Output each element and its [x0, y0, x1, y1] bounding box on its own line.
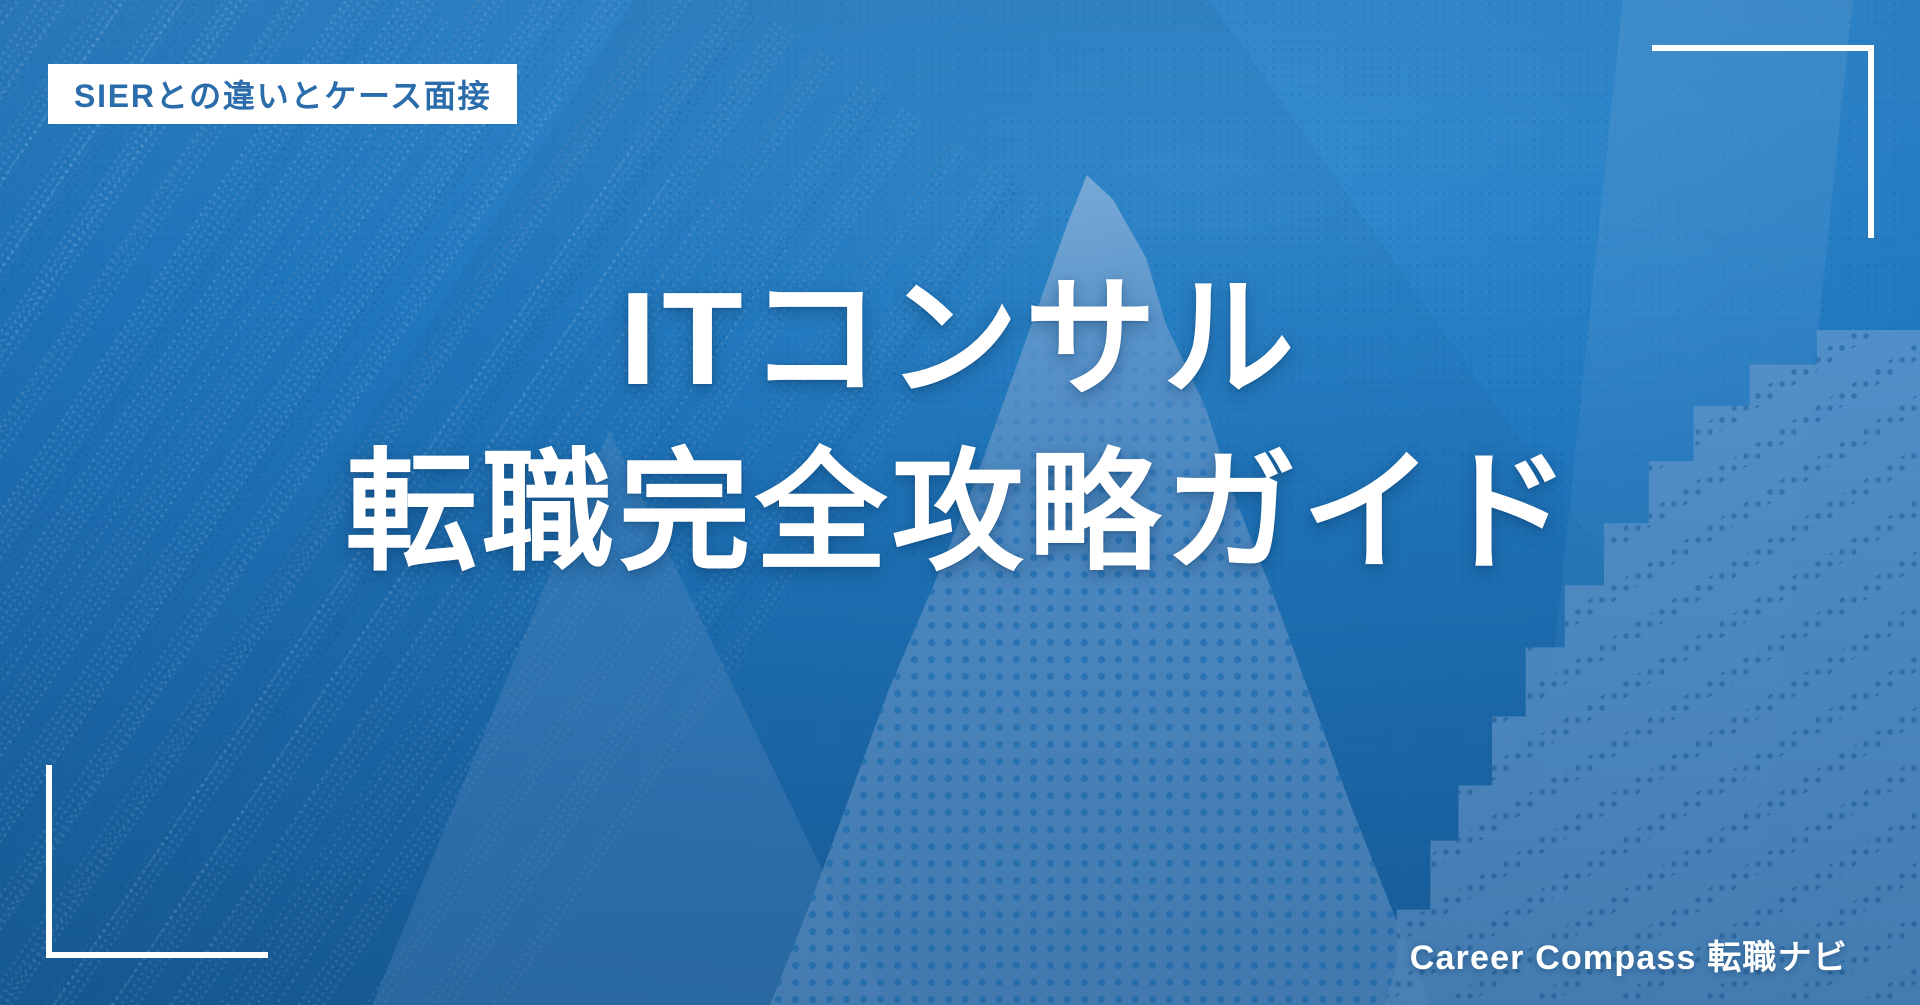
brand-label: Career Compass 転職ナビ	[1410, 930, 1848, 979]
category-badge: SIERとの違いとケース面接	[48, 64, 517, 124]
page-title: ITコンサル 転職完全攻略ガイド	[0, 252, 1920, 600]
hero-banner: SIERとの違いとケース面接 ITコンサル 転職完全攻略ガイド Career C…	[0, 0, 1920, 1005]
page-title-line-1: ITコンサル	[0, 252, 1920, 426]
page-title-line-2: 転職完全攻略ガイド	[0, 426, 1920, 600]
